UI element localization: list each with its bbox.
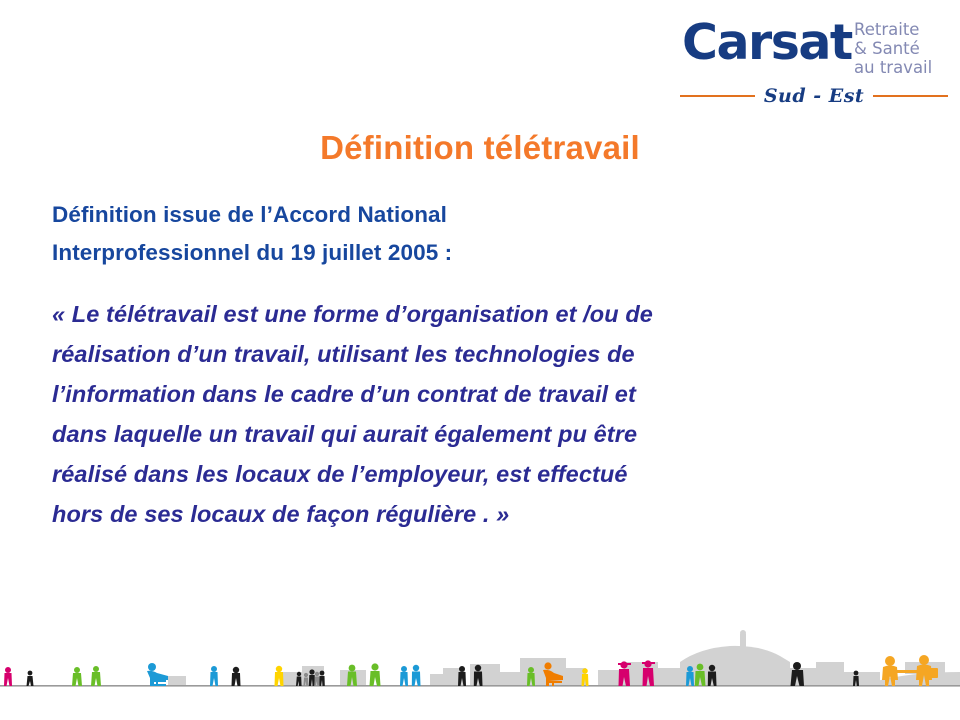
intro-line: Définition issue de l’Accord National [52,196,932,234]
logo-tagline: Retraite & Santé au travail [854,20,932,77]
slide-title: Définition télétravail [0,129,960,167]
quote-line: l’information dans le cadre d’un contrat… [52,374,932,414]
logo-rule-left [680,95,755,97]
quote-line: hors de ses locaux de façon régulière . … [52,494,932,534]
footer-frieze [0,628,960,720]
quote-line: dans laquelle un travail qui aurait égal… [52,414,932,454]
quote-line: « Le télétravail est une forme d’organis… [52,294,932,334]
intro-line: Interprofessionnel du 19 juillet 2005 : [52,234,932,272]
logo-region-row: Sud - Est [680,85,948,107]
logo-wordmark: Carsat [682,18,852,67]
quote-block: « Le télétravail est une forme d’organis… [52,294,932,534]
quote-line: réalisation d’un travail, utilisant les … [52,334,932,374]
slide-body: Définition issue de l’Accord National In… [52,196,932,534]
logo-region-label: Sud - Est [764,85,864,107]
logo-rule-right [873,95,948,97]
quote-line: réalisé dans les locaux de l’employeur, … [52,454,932,494]
footer-illustration [0,628,960,720]
carsat-logo: Carsat Retraite & Santé au travail Sud -… [672,6,954,110]
skyline-shapes [168,630,960,686]
